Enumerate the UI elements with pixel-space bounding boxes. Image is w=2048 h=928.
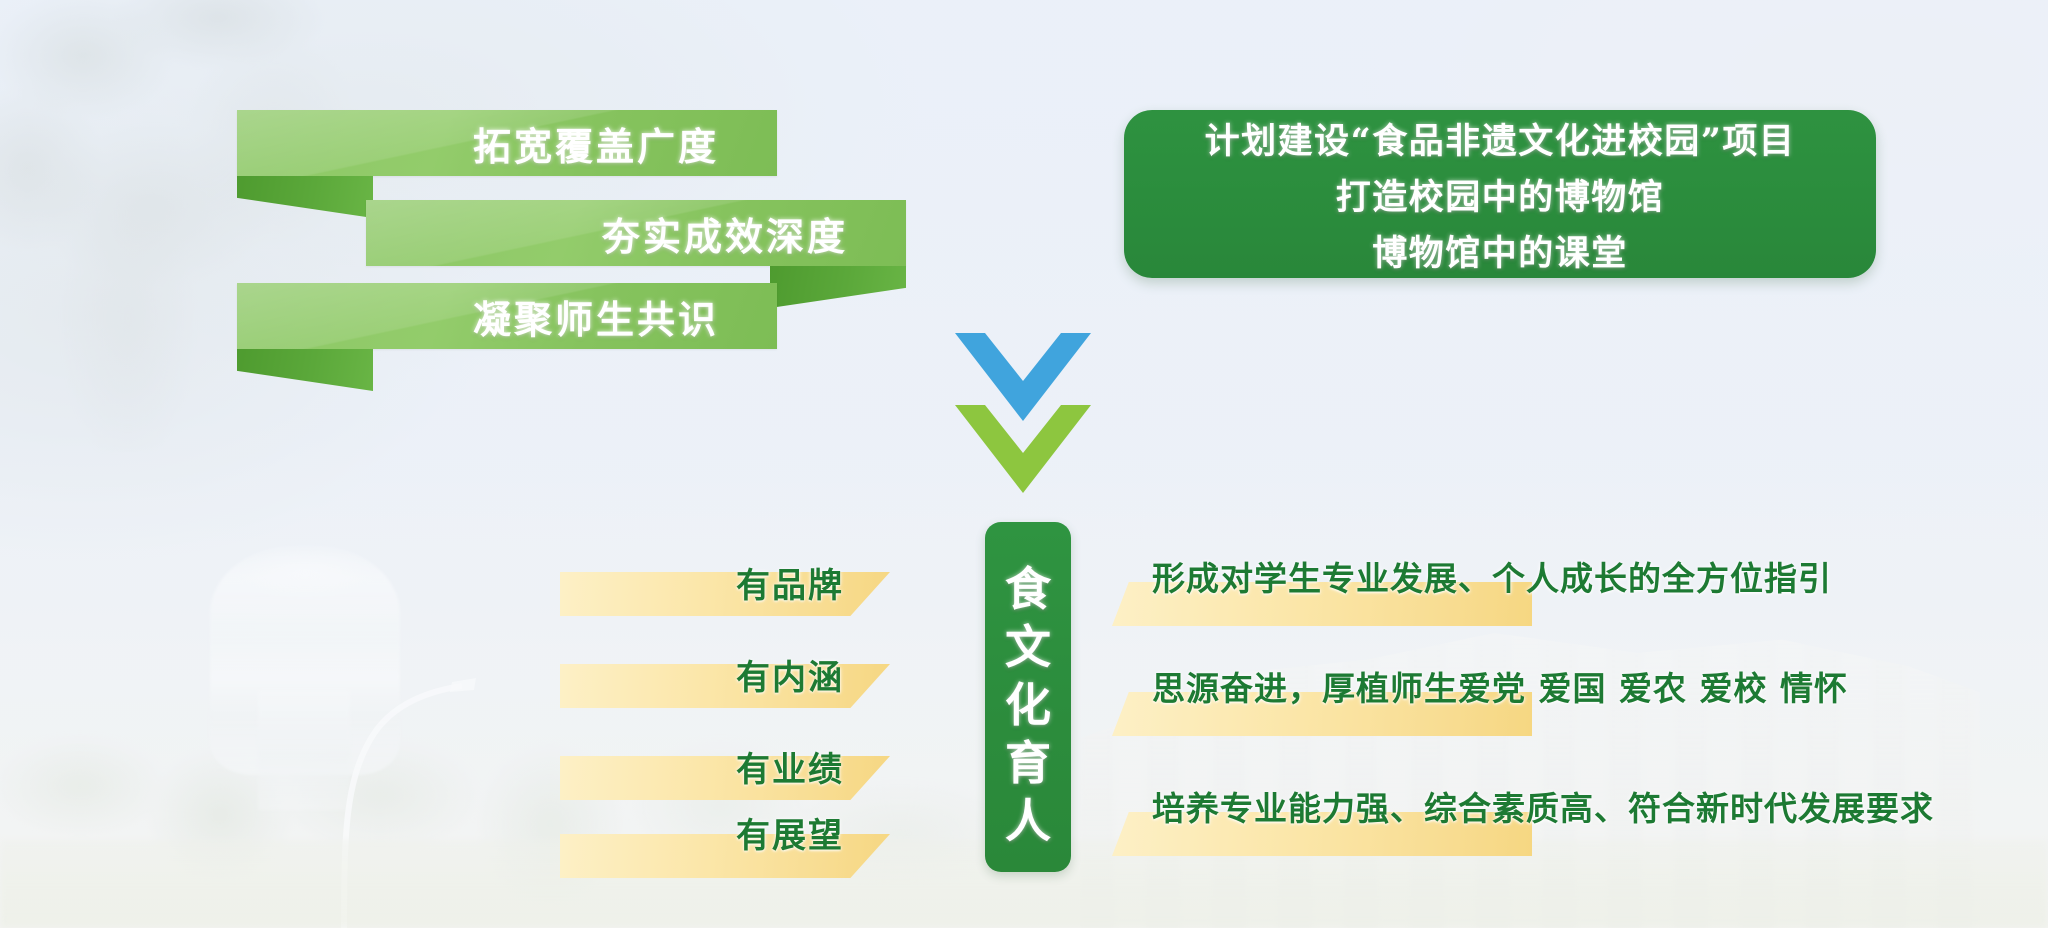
gold-label-left-4: 有展望 bbox=[736, 808, 844, 857]
background-water-tower bbox=[210, 545, 400, 775]
plan-card-line-1: 计划建设“食品非遗文化进校园”项目 bbox=[1205, 113, 1796, 164]
pillar-char-3: 化 bbox=[1005, 677, 1051, 735]
pillar-char-2: 文 bbox=[1005, 619, 1051, 677]
gold-label-left-2: 有内涵 bbox=[736, 650, 844, 699]
chevron-down-green-icon bbox=[955, 405, 1091, 505]
ribbon-tail-3 bbox=[237, 349, 373, 391]
ribbon-label-1: 拓宽覆盖广度 bbox=[473, 116, 777, 171]
gold-label-left-3: 有业绩 bbox=[736, 742, 844, 791]
pillar-food-culture-education[interactable]: 食 文 化 育 人 bbox=[985, 522, 1071, 872]
gold-label-left-1: 有品牌 bbox=[736, 558, 844, 607]
gold-label-right-2: 思源奋进，厚植师生爱党 爱国 爱农 爱校 情怀 bbox=[1152, 662, 1848, 710]
plan-card-line-3: 博物馆中的课堂 bbox=[1372, 225, 1628, 276]
ribbon-label-3: 凝聚师生共识 bbox=[473, 289, 777, 344]
pillar-char-1: 食 bbox=[1005, 561, 1051, 619]
ribbon-label-2: 夯实成效深度 bbox=[602, 206, 906, 261]
ribbon-tail-1 bbox=[237, 176, 373, 218]
background-trees bbox=[0, 690, 1000, 928]
ribbon-banner-1[interactable]: 拓宽覆盖广度 bbox=[237, 110, 777, 176]
gold-label-right-1: 形成对学生专业发展、个人成长的全方位指引 bbox=[1152, 552, 1832, 600]
pillar-char-5: 人 bbox=[1005, 793, 1051, 851]
background-tower-base bbox=[258, 690, 350, 810]
pillar-char-4: 育 bbox=[1005, 735, 1051, 793]
background-building bbox=[1080, 600, 1980, 928]
slide-canvas: 拓宽覆盖广度 夯实成效深度 凝聚师生共识 计划建设“食品非遗文化进校园”项目 打… bbox=[0, 0, 2048, 928]
ribbon-tail-2 bbox=[770, 266, 906, 308]
plan-card[interactable]: 计划建设“食品非遗文化进校园”项目 打造校园中的博物馆 博物馆中的课堂 bbox=[1124, 110, 1876, 278]
ribbon-banner-3[interactable]: 凝聚师生共识 bbox=[237, 283, 777, 349]
ribbon-banner-2[interactable]: 夯实成效深度 bbox=[366, 200, 906, 266]
gold-label-right-3: 培养专业能力强、综合素质高、符合新时代发展要求 bbox=[1152, 782, 1934, 830]
background-street-lamp bbox=[330, 662, 480, 928]
plan-card-line-2: 打造校园中的博物馆 bbox=[1336, 169, 1665, 220]
